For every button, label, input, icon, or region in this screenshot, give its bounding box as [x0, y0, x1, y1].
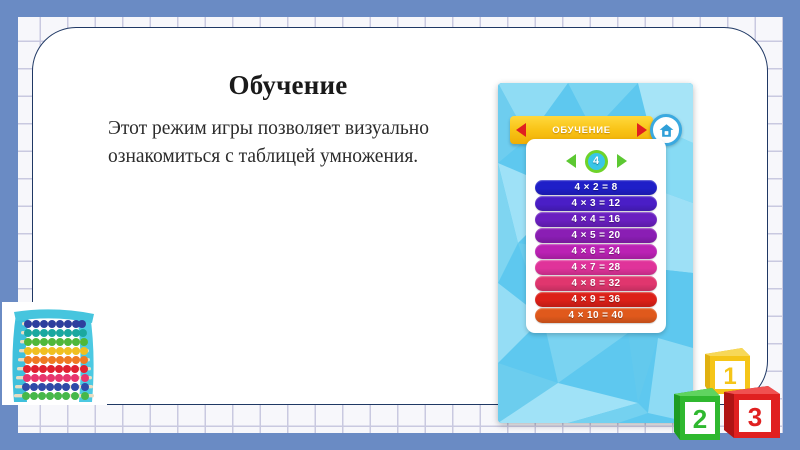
equation-pill[interactable]: 4 × 6 = 24 [535, 244, 657, 259]
text-column: Обучение Этот режим игры позволяет визуа… [108, 70, 468, 170]
content-card: Обучение Этот режим игры позволяет визуа… [32, 27, 768, 405]
toy-blocks-illustration: 1 2 3 [672, 336, 790, 444]
app-screenshot-mockup: ОБУЧЕНИЕ 4 [498, 83, 693, 423]
equation-pill[interactable]: 4 × 10 = 40 [535, 308, 657, 323]
app-screen: ОБУЧЕНИЕ 4 [498, 83, 693, 423]
toy-blocks-image: 1 2 3 [672, 336, 790, 444]
equation-pill[interactable]: 4 × 5 = 20 [535, 228, 657, 243]
equation-pill[interactable]: 4 × 2 = 8 [535, 180, 657, 195]
equation-pill[interactable]: 4 × 4 = 16 [535, 212, 657, 227]
equation-pill[interactable]: 4 × 7 = 28 [535, 260, 657, 275]
equation-pill[interactable]: 4 × 9 = 36 [535, 292, 657, 307]
abacus-illustration [2, 302, 107, 405]
triangle-left-icon[interactable] [516, 123, 526, 137]
equation-pill[interactable]: 4 × 8 = 32 [535, 276, 657, 291]
abacus-image [2, 302, 107, 405]
page-title: Обучение [108, 70, 468, 101]
home-icon [659, 123, 674, 138]
selected-number-badge[interactable]: 4 [585, 150, 608, 173]
body-text: Этот режим игры позволяет визуально озна… [108, 115, 468, 170]
mode-banner-label: ОБУЧЕНИЕ [552, 125, 611, 136]
svg-text:3: 3 [748, 402, 762, 432]
svg-text:2: 2 [693, 404, 707, 434]
multiplication-table-list: 4 × 2 = 84 × 3 = 124 × 4 = 164 × 5 = 204… [535, 180, 657, 323]
equation-pill[interactable]: 4 × 3 = 12 [535, 196, 657, 211]
triangle-left-icon[interactable] [566, 154, 576, 168]
svg-text:1: 1 [723, 363, 736, 390]
slide-root: Обучение Этот режим игры позволяет визуа… [0, 0, 800, 450]
triangle-right-icon[interactable] [637, 123, 647, 137]
table-panel: 4 4 × 2 = 84 × 3 = 124 × 4 = 164 × 5 = 2… [526, 139, 666, 333]
number-selector: 4 [526, 148, 666, 174]
block-3: 3 [724, 386, 780, 438]
triangle-right-icon[interactable] [617, 154, 627, 168]
block-1: 1 [705, 348, 750, 394]
block-2: 2 [674, 388, 720, 440]
